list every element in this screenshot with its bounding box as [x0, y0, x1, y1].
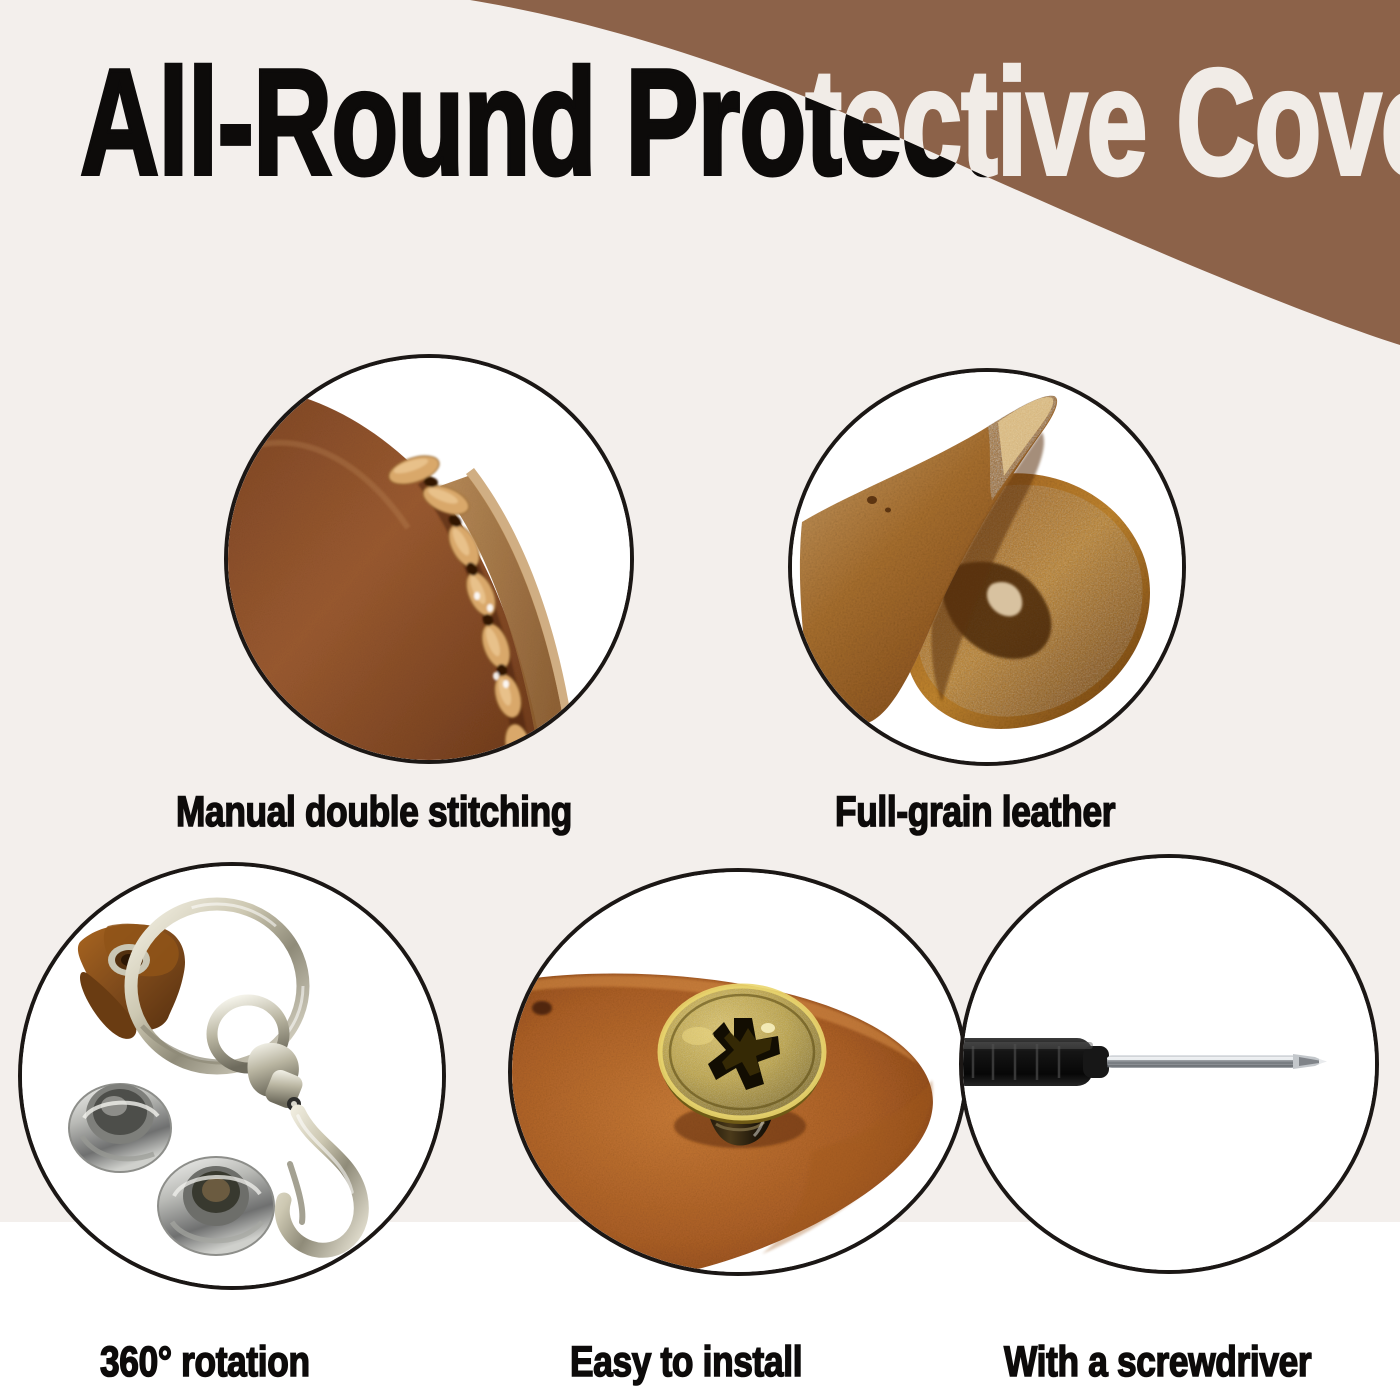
caption-easy-to-install: Easy to install: [570, 1338, 802, 1387]
feature-image-manual-double-stitching: [228, 358, 630, 760]
caption-360-rotation: 360° rotation: [100, 1338, 310, 1387]
product-infographic: All-Round Protective Cover All-Round Pro…: [0, 0, 1400, 1400]
caption-full-grain-leather: Full-grain leather: [835, 788, 1115, 837]
feature-image-full-grain-leather: [792, 372, 1182, 762]
feature-image-easy-to-install: [512, 872, 964, 1272]
feature-image-with-a-screwdriver: [963, 858, 1375, 1270]
page-title: All-Round Protective Cover All-Round Pro…: [0, 0, 1400, 360]
caption-with-a-screwdriver: With a screwdriver: [1004, 1338, 1311, 1387]
feature-image-360-rotation: [22, 866, 442, 1286]
caption-manual-double-stitching: Manual double stitching: [176, 788, 572, 837]
